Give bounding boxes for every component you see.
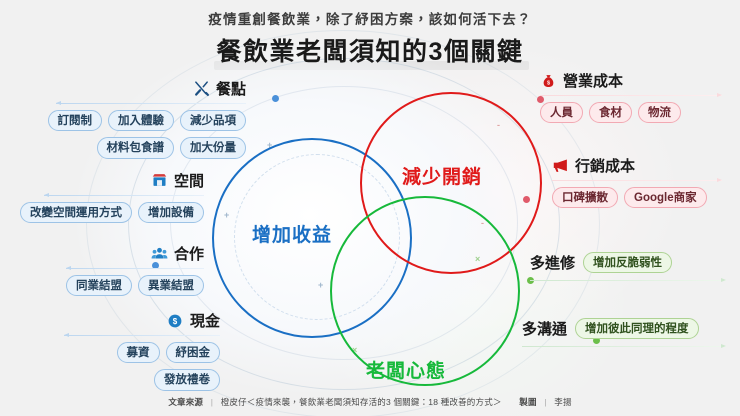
group-study-title: 多進修 [530,252,575,273]
chip-cash-3[interactable]: 發放禮卷 [154,369,220,390]
chip-meals-2[interactable]: 加入體驗 [108,110,174,131]
group-meals: 餐點 訂閱制 加入體驗 減少品項 材料包食譜 加大份量 [14,78,246,159]
group-operating-cost-title: 營業成本 [563,70,623,91]
group-operating-cost: $ 營業成本 人員 食材 物流 [540,70,730,123]
group-cooperation-chips: 同業結盟 異業結盟 [48,275,204,296]
group-study-rule [530,280,726,281]
group-cash-title: 現金 [190,310,220,331]
group-cooperation-title: 合作 [174,243,204,264]
group-marketing-cost: 行銷成本 口碑擴散 Google商家 [552,155,734,208]
chip-communicate-1[interactable]: 增加彼此同理的程度 [575,318,699,339]
footer-source-text: 橙皮仔＜疫情來襲，餐飲業老闆須知存活的3 個關鍵：18 種改善的方式＞ [221,397,502,407]
chip-meals-1[interactable]: 訂閱制 [48,110,103,131]
chip-marketing-2[interactable]: Google商家 [624,187,707,208]
money-bag-icon: $ [540,72,557,89]
footer-credits: 文章來源 | 橙皮仔＜疫情來襲，餐飲業老闆須知存活的3 個關鍵：18 種改善的方… [0,396,740,408]
group-cash-chips: 募資 紓困金 發放禮卷 [46,342,220,391]
chip-meals-3[interactable]: 減少品項 [180,110,246,131]
footer-spacer [509,397,512,407]
group-cash-header: $ 現金 [46,310,220,331]
fork-knife-icon [193,80,210,97]
group-cooperation: 合作 同業結盟 異業結盟 [48,243,204,296]
group-marketing-cost-header: 行銷成本 [552,155,734,176]
group-cash: $ 現金 募資 紓困金 發放禮卷 [46,310,220,391]
footer-source-label: 文章來源 [168,397,203,407]
page-title: 餐飲業老闆須知的3個關鍵 [0,32,740,68]
group-communicate-header: 多溝通 增加彼此同理的程度 [522,318,730,339]
group-space-chips: 改變空間運用方式 增加設備 [8,202,204,223]
chip-meals-5[interactable]: 加大份量 [180,137,246,158]
group-marketing-cost-chips: 口碑擴散 Google商家 [552,187,734,208]
group-communicate-rule [522,346,726,347]
svg-text:$: $ [173,317,178,326]
group-cash-rule [64,335,220,336]
group-meals-rule [56,103,246,104]
group-space-title: 空間 [174,170,204,191]
chip-marketing-1[interactable]: 口碑擴散 [552,187,618,208]
chip-cash-2[interactable]: 紓困金 [166,342,221,363]
chip-space-2[interactable]: 增加設備 [138,202,204,223]
page-subtitle: 疫情重創餐飲業，除了紓困方案，該如何活下去？ [0,8,740,28]
group-marketing-cost-rule [552,180,722,181]
footer-separator-2: | [544,397,546,407]
group-space: 空間 改變空間運用方式 增加設備 [8,170,204,223]
venn-diagram: 增加收益 減少開銷 老闆心態 [196,80,556,380]
group-operating-cost-rule [540,95,722,96]
group-communicate: 多溝通 增加彼此同理的程度 [522,318,730,347]
venn-label-revenue: 增加收益 [252,220,332,247]
chip-study-1[interactable]: 增加反脆弱性 [583,252,672,273]
chip-space-1[interactable]: 改變空間運用方式 [20,202,132,223]
chip-cash-1[interactable]: 募資 [117,342,160,363]
group-meals-chips-row1: 訂閱制 加入體驗 減少品項 [14,110,246,131]
group-communicate-title: 多溝通 [522,318,567,339]
infographic-canvas: + + + - - × × 疫情重創餐飲業，除了紓困方案，該如何活下去？ 餐飲業… [0,0,740,416]
group-study-header: 多進修 增加反脆弱性 [530,252,730,273]
chip-operating-2[interactable]: 食材 [589,102,632,123]
megaphone-icon [552,157,569,174]
footer-credit-text: 李揚 [554,397,571,407]
footer-separator-1: | [211,397,213,407]
venn-label-mindset: 老闆心態 [366,356,446,383]
group-study: 多進修 增加反脆弱性 [530,252,730,281]
group-meals-chips-row2: 材料包食譜 加大份量 [14,137,246,158]
group-cooperation-header: 合作 [48,243,204,264]
group-meals-title: 餐點 [216,78,246,99]
group-meals-header: 餐點 [14,78,246,99]
footer-credit-label: 製圖 [519,397,536,407]
group-operating-cost-chips: 人員 食材 物流 [540,102,730,123]
chip-cooperation-2[interactable]: 異業結盟 [138,275,204,296]
group-space-rule [44,195,204,196]
group-space-header: 空間 [8,170,204,191]
storefront-icon [151,172,168,189]
chip-meals-4[interactable]: 材料包食譜 [97,137,175,158]
coin-dollar-icon: $ [167,312,184,329]
chip-cooperation-1[interactable]: 同業結盟 [66,275,132,296]
people-icon [151,245,168,262]
chip-operating-3[interactable]: 物流 [638,102,681,123]
group-cooperation-rule [66,268,204,269]
chip-operating-1[interactable]: 人員 [540,102,583,123]
group-marketing-cost-title: 行銷成本 [575,155,635,176]
venn-label-expense: 減少開銷 [402,162,482,189]
group-operating-cost-header: $ 營業成本 [540,70,730,91]
